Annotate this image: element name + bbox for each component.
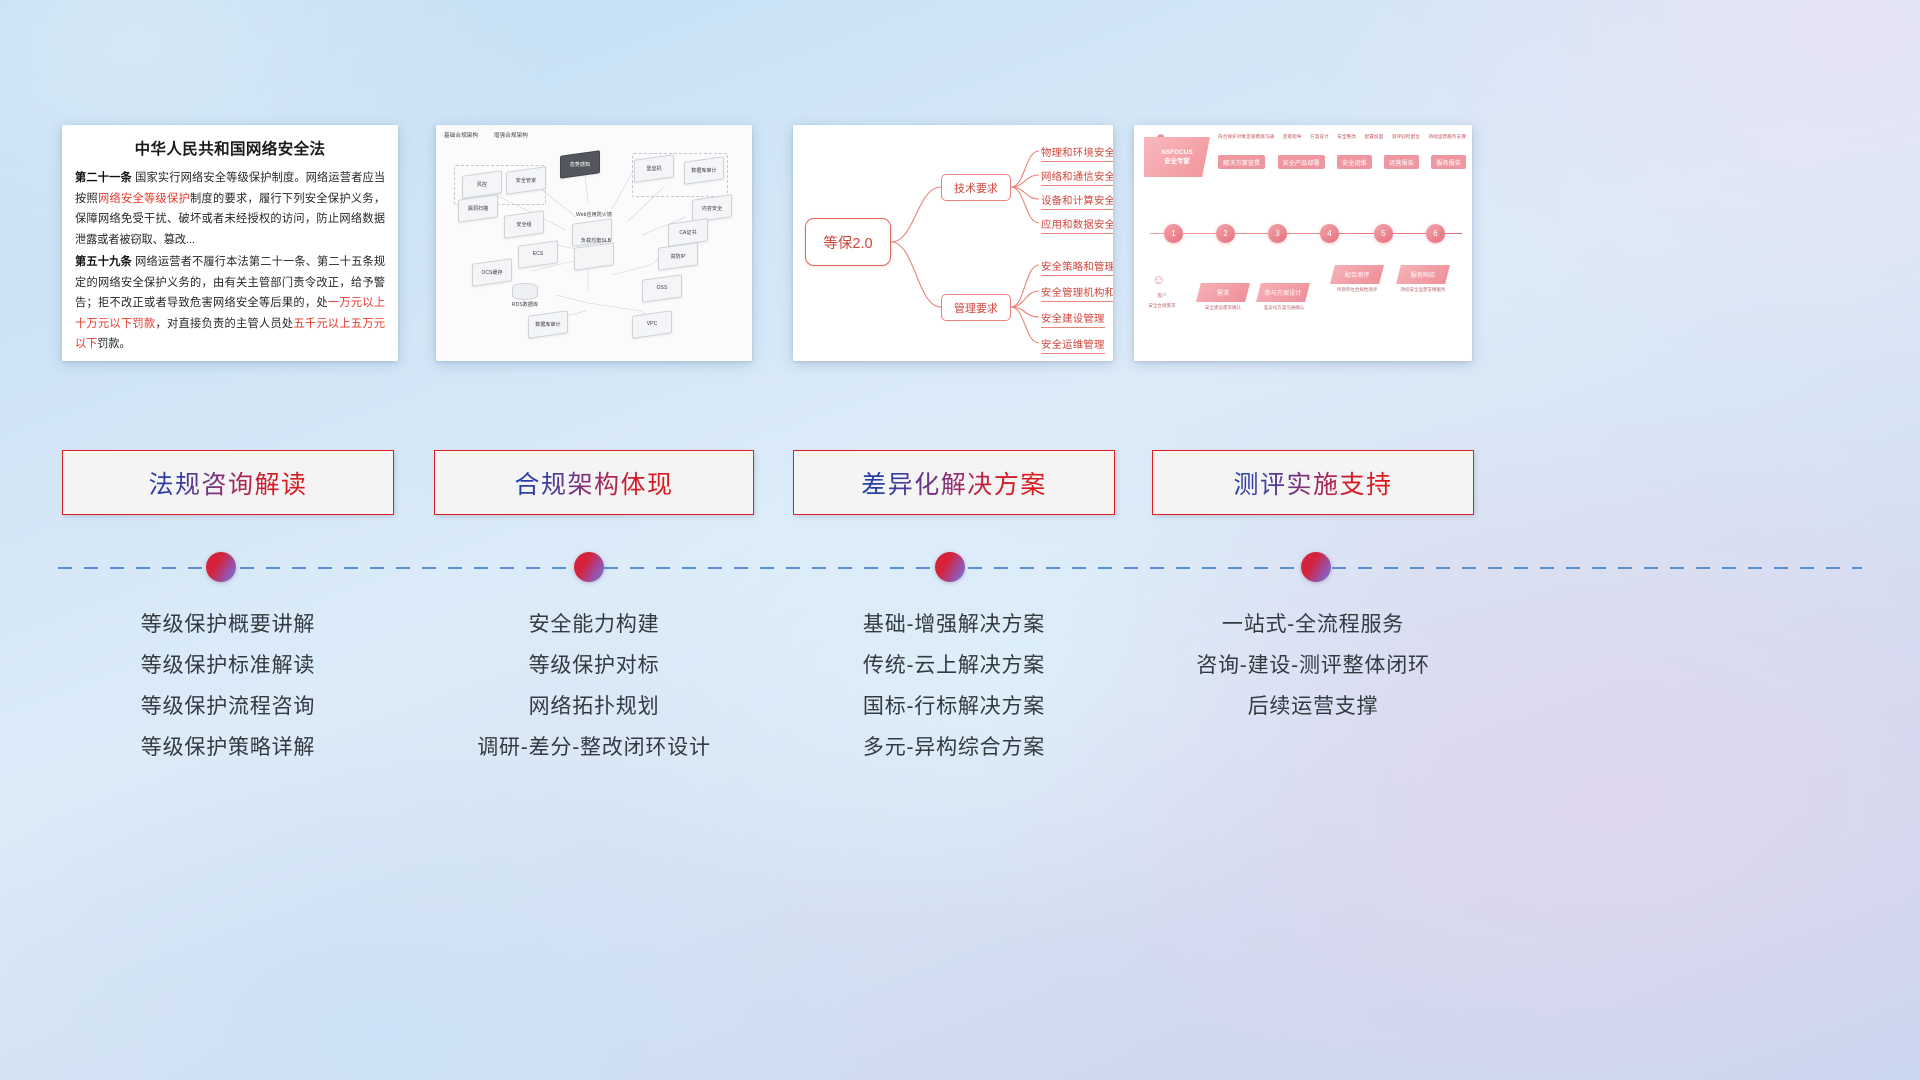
legal-document-body: 中华人民共和国网络安全法 第二十一条 国家实行网络安全等级保护制度。网络运营者应…	[62, 125, 398, 361]
arch-node-label-16: 高防IP	[651, 253, 705, 260]
arch-node-label-1: 安全管家	[499, 177, 553, 184]
mindmap-leaf-m1: 安全管理机构和人员	[1041, 284, 1113, 302]
roadmap-header-3: 安全整改	[1337, 134, 1356, 140]
architecture-canvas: 基础合规架构 增强合规架构 风控 安全管家	[436, 125, 752, 361]
article-21-label: 第二十一条	[75, 172, 132, 184]
arch-node-label-13: RDS数据库	[498, 301, 552, 308]
roadmap-right-cap-1: 持续安全运营支撑服务	[1390, 287, 1456, 293]
mindmap-leaf-m3: 安全运维管理	[1041, 336, 1105, 354]
section-item-list-2: 安全能力构建 等级保护对标 网络拓扑规划 调研-差分-整改闭环设计	[434, 604, 754, 768]
section-header-box-4[interactable]: 测评实施支持	[1152, 450, 1474, 515]
timeline-dot-4[interactable]	[1301, 552, 1331, 582]
roadmap-header-4: 配置加固	[1365, 134, 1384, 140]
customer-label: 客户	[1140, 293, 1184, 299]
arch-node-label-9: 负载均衡SLB	[564, 237, 628, 244]
roadmap-right-chip-0: 配合测评	[1330, 265, 1384, 284]
legal-article-59: 第五十九条 网络运营者不履行本法第二十一条、第二十五条规定的网络安全保护义务的，…	[75, 252, 385, 355]
article-59-text-3: 罚款。	[97, 338, 130, 350]
roadmap-step-1: 1	[1164, 224, 1183, 243]
list-item: 等级保护策略详解	[62, 727, 394, 768]
roadmap-mid-cap-1: 差异化方案沟通确认	[1254, 305, 1314, 311]
arch-node-label-11: OSS	[635, 285, 689, 291]
roadmap-chip-1: 安全产品部署	[1278, 155, 1325, 169]
roadmap-header-row: 符合保护对象定级摸底沟通 定级指导 方案设计 安全整改 配置加固 测评迎检配合 …	[1218, 134, 1466, 140]
arch-node-label-4: 数据库审计	[677, 167, 731, 174]
section-item-list-1: 等级保护概要讲解 等级保护标准解读 等级保护流程咨询 等级保护策略详解	[62, 604, 394, 768]
mindmap-leaf-t0: 物理和环境安全	[1041, 144, 1113, 162]
roadmap-right-chip-1: 服务响应	[1396, 265, 1450, 284]
mindmap-branch-management: 管理要求	[941, 294, 1011, 321]
roadmap-mid-chip-0: 需求	[1196, 283, 1250, 302]
arch-node-label-5: 漏洞扫描	[451, 205, 505, 212]
article-59-label: 第五十九条	[75, 256, 132, 268]
list-item: 等级保护标准解读	[62, 645, 394, 686]
mindmap-leaf-m2: 安全建设管理	[1041, 310, 1105, 328]
mindmap-canvas: 等保2.0 技术要求 管理要求 物理和环境安全 网络和通信安全 设备和计算安全 …	[793, 125, 1113, 361]
mindmap-branch-technical: 技术要求	[941, 174, 1011, 201]
list-item: 等级保护对标	[434, 645, 754, 686]
roadmap-chip-2: 安全运维	[1337, 155, 1372, 169]
timeline-dot-2[interactable]	[574, 552, 604, 582]
arch-node-label-6: 内容安全	[685, 205, 739, 212]
roadmap-step-6: 6	[1426, 224, 1445, 243]
list-item: 国标-行标解决方案	[793, 686, 1115, 727]
arch-node-13	[512, 283, 538, 300]
timeline-dot-1[interactable]	[206, 552, 236, 582]
roadmap-axis-line	[1150, 233, 1462, 234]
customer-avatar-icon: ☺	[1152, 273, 1165, 286]
roadmap-chip-0: 解决方案宣贯	[1218, 155, 1265, 169]
section-header-label-4: 测评实施支持	[1233, 465, 1392, 501]
list-item: 等级保护概要讲解	[62, 604, 394, 645]
mindmap-root: 等保2.0	[805, 218, 891, 266]
list-item: 调研-差分-整改闭环设计	[434, 727, 754, 768]
section-header-label-3: 差异化解决方案	[861, 465, 1047, 501]
roadmap-chip-3: 运营报告	[1384, 155, 1419, 169]
arch-top-label-1: 增强合规架构	[494, 133, 528, 139]
legal-article-21: 第二十一条 国家实行网络安全等级保护制度。网络运营者应当按照网络安全等级保护制度…	[75, 168, 385, 250]
roadmap-chip-row: 解决方案宣贯 安全产品部署 安全运维 运营报告 服务报告	[1218, 155, 1466, 169]
section-header-box-1[interactable]: 法规咨询解读	[62, 450, 394, 515]
roadmap-header-5: 测评迎检配合	[1392, 134, 1420, 140]
list-item: 等级保护流程咨询	[62, 686, 394, 727]
roadmap-header-0: 符合保护对象定级摸底沟通	[1218, 134, 1274, 140]
architecture-top-labels: 基础合规架构 增强合规架构	[444, 131, 542, 139]
preview-card-service-roadmap[interactable]: ☻ NSFOCUS 安全专家 符合保护对象定级摸底沟通 定级指导 方案设计 安全…	[1134, 125, 1472, 361]
preview-card-mindmap[interactable]: 等保2.0 技术要求 管理要求 物理和环境安全 网络和通信安全 设备和计算安全 …	[793, 125, 1113, 361]
preview-card-architecture-diagram[interactable]: 基础合规架构 增强合规架构 风控 安全管家	[436, 125, 752, 361]
article-59-text-2: ，对直接负责的主管人员处	[155, 318, 293, 330]
roadmap-header-2: 方案设计	[1310, 134, 1329, 140]
arch-node-label-14: OCS缓存	[465, 269, 519, 276]
arch-node-label-17: 数据库审计	[521, 321, 575, 328]
list-item: 基础-增强解决方案	[793, 604, 1115, 645]
arch-node-label-8: Web应用防火墙	[561, 211, 627, 218]
arch-node-label-3: 堡垒机	[627, 165, 681, 172]
section-header-box-3[interactable]: 差异化解决方案	[793, 450, 1115, 515]
brand-name: NSFOCUS	[1161, 148, 1192, 157]
mindmap-leaf-t2: 设备和计算安全	[1041, 192, 1113, 210]
list-item: 后续运营支撑	[1152, 686, 1474, 727]
roadmap-step-2: 2	[1216, 224, 1235, 243]
roadmap-header-1: 定级指导	[1283, 134, 1302, 140]
list-item: 一站式-全流程服务	[1152, 604, 1474, 645]
roadmap-step-5: 5	[1374, 224, 1393, 243]
article-21-highlight: 网络安全等级保护	[98, 193, 190, 205]
roadmap-right-cap-0: 评测单位合规性测评	[1326, 287, 1388, 293]
list-item: 传统-云上解决方案	[793, 645, 1115, 686]
brand-ribbon: NSFOCUS 安全专家	[1144, 137, 1210, 177]
mindmap-leaf-t3: 应用和数据安全	[1041, 216, 1113, 234]
roadmap-canvas: ☻ NSFOCUS 安全专家 符合保护对象定级摸底沟通 定级指导 方案设计 安全…	[1134, 125, 1472, 361]
arch-node-label-12: VPC	[625, 321, 679, 327]
mindmap-leaf-m0: 安全策略和管理制度	[1041, 258, 1113, 276]
legal-document-title: 中华人民共和国网络安全法	[75, 137, 385, 159]
list-item: 多元-异构综合方案	[793, 727, 1115, 768]
arch-top-label-0: 基础合规架构	[444, 133, 478, 139]
list-item: 网络拓扑规划	[434, 686, 754, 727]
mindmap-leaf-t1: 网络和通信安全	[1041, 168, 1113, 186]
section-item-list-4: 一站式-全流程服务 咨询-建设-测评整体闭环 后续运营支撑	[1152, 604, 1474, 727]
roadmap-mid-cap-0: 安全建设需求确认	[1194, 305, 1252, 311]
customer-sublabel: 安全合规需求	[1136, 303, 1188, 309]
roadmap-step-3: 3	[1268, 224, 1287, 243]
section-header-label-2: 合规架构体现	[514, 465, 673, 501]
arch-node-label-7: 安全组	[497, 221, 551, 228]
roadmap-step-4: 4	[1320, 224, 1339, 243]
list-item: 安全能力构建	[434, 604, 754, 645]
roadmap-mid-chip-1: 参与方案设计	[1256, 283, 1310, 302]
section-header-box-2[interactable]: 合规架构体现	[434, 450, 754, 515]
brand-role: 安全专家	[1164, 157, 1190, 166]
timeline-dot-3[interactable]	[935, 552, 965, 582]
arch-node-label-15: CA证书	[661, 229, 715, 236]
poster-stage: 中华人民共和国网络安全法 第二十一条 国家实行网络安全等级保护制度。网络运营者应…	[0, 0, 1920, 1080]
preview-card-legal-document[interactable]: 中华人民共和国网络安全法 第二十一条 国家实行网络安全等级保护制度。网络运营者应…	[62, 125, 398, 361]
arch-node-label-2: 态势感知	[553, 161, 607, 168]
section-item-list-3: 基础-增强解决方案 传统-云上解决方案 国标-行标解决方案 多元-异构综合方案	[793, 604, 1115, 768]
roadmap-chip-4: 服务报告	[1431, 155, 1466, 169]
list-item: 咨询-建设-测评整体闭环	[1152, 645, 1474, 686]
arch-node-label-10: ECS	[511, 251, 565, 257]
roadmap-header-6: 持续运营服务支撑	[1428, 134, 1466, 140]
section-header-label-1: 法规咨询解读	[148, 465, 307, 501]
